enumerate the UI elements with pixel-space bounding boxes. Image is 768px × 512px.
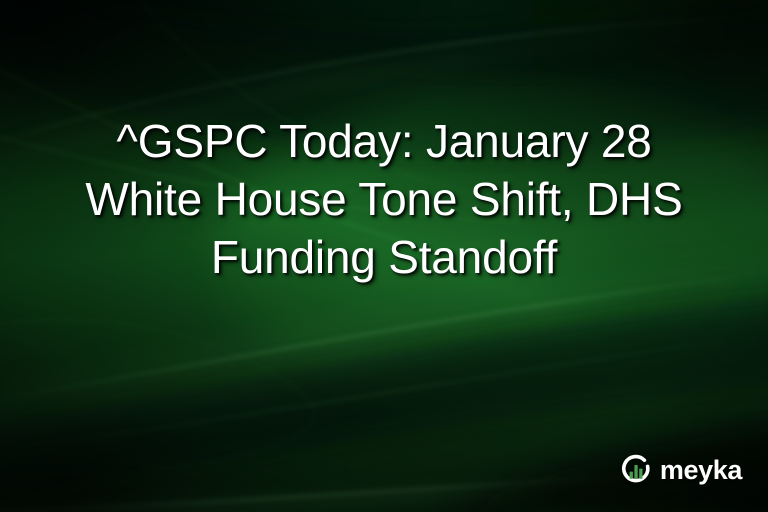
meyka-wordmark: meyka	[660, 457, 742, 484]
headline-line-3: Funding Standoff	[26, 228, 742, 286]
meyka-logo[interactable]: meyka	[619, 453, 742, 487]
meyka-circle-bars-logo-icon	[619, 453, 653, 487]
logo-bar-3	[639, 469, 642, 479]
headline-title: ^GSPC Today: January 28 White House Tone…	[0, 112, 768, 286]
share-card-canvas: ^GSPC Today: January 28 White House Tone…	[0, 0, 768, 512]
logo-bar-1	[630, 472, 633, 479]
headline-line-2: White House Tone Shift, DHS	[26, 170, 742, 228]
headline-line-1: ^GSPC Today: January 28	[26, 112, 742, 170]
logo-bar-2	[634, 465, 637, 479]
